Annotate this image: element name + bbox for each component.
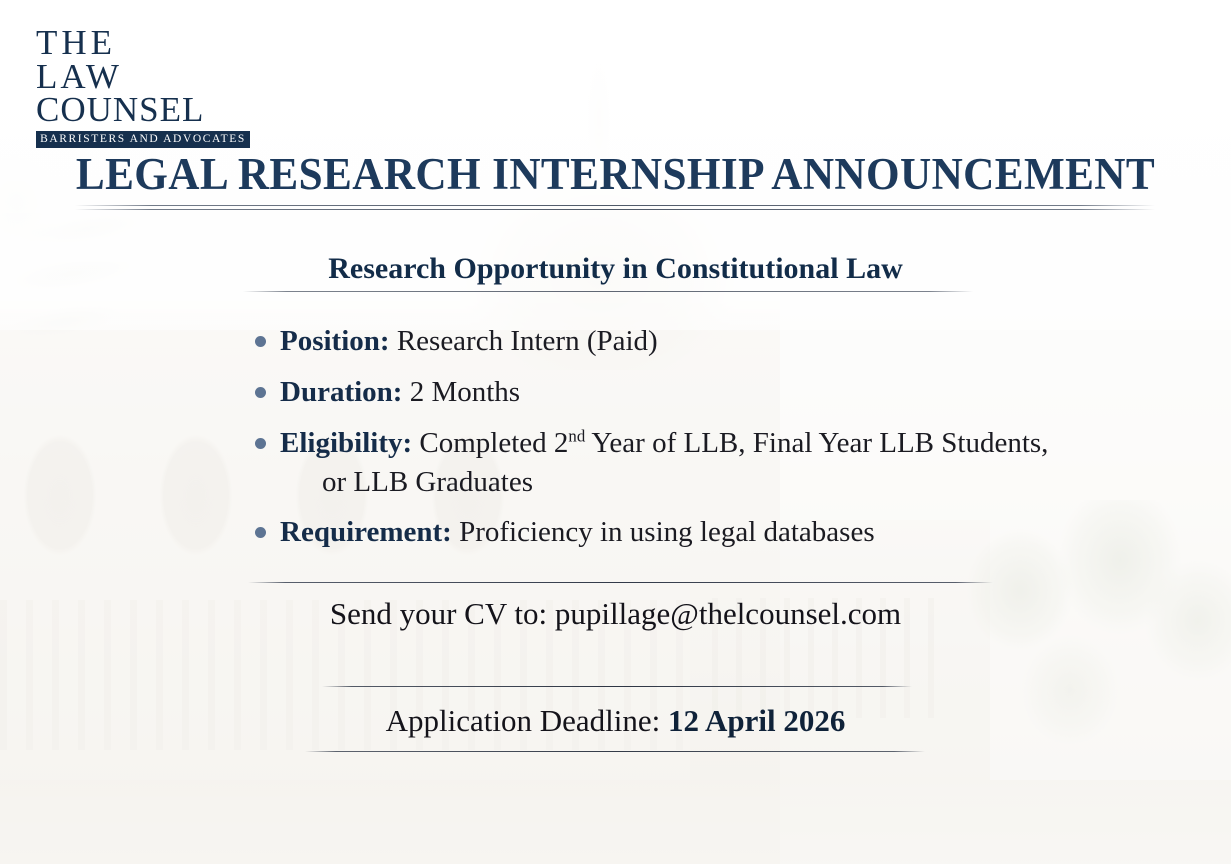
cv-email-address[interactable]: pupillage@thelcounsel.com [555, 596, 901, 631]
logo-line-counsel: COUNSEL [36, 93, 266, 127]
detail-position: Position: Research Intern (Paid) [280, 322, 658, 361]
detail-value-continuation: or LLB Graduates [280, 463, 1048, 502]
detail-value: Proficiency in using legal databases [459, 516, 875, 548]
title-divider [75, 205, 1155, 210]
detail-label: Requirement: [280, 516, 452, 548]
ordinal-suffix: nd [568, 426, 585, 445]
email-divider [248, 582, 993, 583]
cv-prompt-text: Send your CV to: [330, 596, 547, 631]
list-item: Duration: 2 Months [255, 373, 1175, 412]
detail-value-rest: Year of LLB, Final Year LLB Students, [585, 427, 1048, 459]
brand-logo: THE LAW COUNSEL BARRISTERS AND ADVOCATES [36, 26, 266, 148]
detail-label: Position: [280, 325, 390, 357]
deadline-divider-top [322, 686, 912, 687]
logo-line-law: LAW [36, 60, 266, 94]
detail-label: Eligibility: [280, 427, 412, 459]
bullet-dot-icon [255, 387, 266, 398]
page-subtitle: Research Opportunity in Constitutional L… [0, 252, 1231, 286]
detail-requirement: Requirement: Proficiency in using legal … [280, 513, 875, 552]
list-item: Eligibility: Completed 2nd Year of LLB, … [255, 424, 1175, 502]
cv-submission-line: Send your CV to: pupillage@thelcounsel.c… [0, 596, 1231, 632]
details-list: Position: Research Intern (Paid) Duratio… [255, 322, 1175, 564]
detail-eligibility: Eligibility: Completed 2nd Year of LLB, … [280, 424, 1048, 502]
subtitle-divider [243, 291, 973, 292]
deadline-divider-bottom [305, 751, 925, 752]
bullet-dot-icon [255, 438, 266, 449]
list-item: Requirement: Proficiency in using legal … [255, 513, 1175, 552]
bullet-dot-icon [255, 527, 266, 538]
logo-tagline-banner: BARRISTERS AND ADVOCATES [36, 131, 250, 148]
bullet-dot-icon [255, 336, 266, 347]
list-item: Position: Research Intern (Paid) [255, 322, 1175, 361]
detail-value: Research Intern (Paid) [397, 325, 658, 357]
detail-label: Duration: [280, 376, 402, 408]
detail-value: Completed 2 [419, 427, 568, 459]
detail-duration: Duration: 2 Months [280, 373, 520, 412]
page-title: LEGAL RESEARCH INTERNSHIP ANNOUNCEMENT [25, 148, 1207, 200]
application-deadline-line: Application Deadline: 12 April 2026 [0, 703, 1231, 739]
logo-line-the: THE [36, 26, 266, 60]
detail-value: 2 Months [410, 376, 520, 408]
deadline-label: Application Deadline: [386, 703, 661, 738]
announcement-poster: THE LAW COUNSEL BARRISTERS AND ADVOCATES… [0, 0, 1231, 864]
deadline-date: 12 April 2026 [668, 703, 845, 738]
